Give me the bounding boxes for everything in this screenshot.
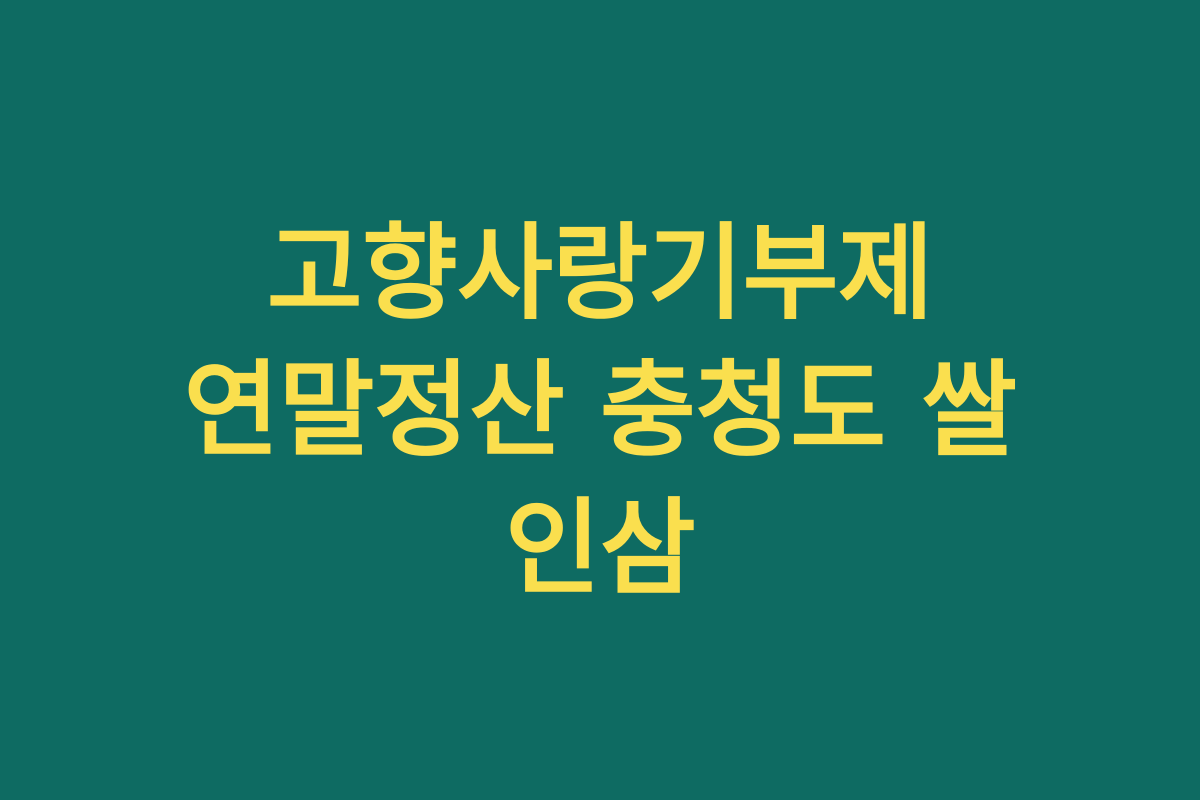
banner-title: 고향사랑기부제 연말정산 충청도 쌀 인삼 (95, 205, 1105, 617)
title-block: 고향사랑기부제 연말정산 충청도 쌀 인삼 (95, 183, 1105, 617)
banner-canvas: 고향사랑기부제 연말정산 충청도 쌀 인삼 (0, 0, 1200, 800)
